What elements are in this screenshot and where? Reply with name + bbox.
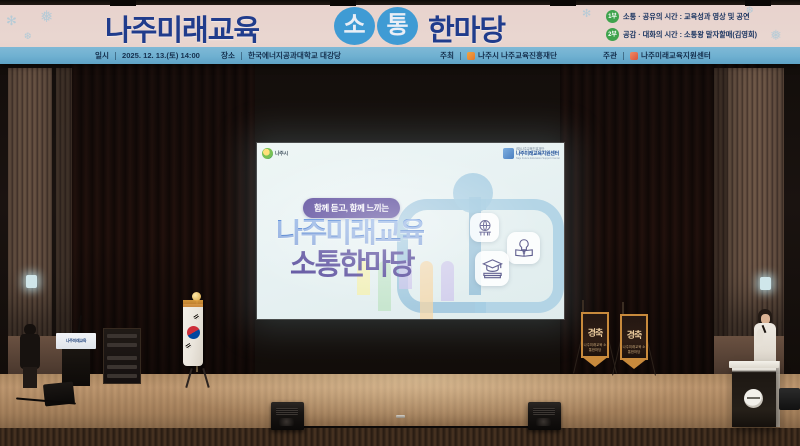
info-organizer-label: 주관 xyxy=(603,50,617,61)
projection-screen: 나주시 (재)나주교육진흥재단 나주미래교육지원센터 Naju Future E… xyxy=(257,143,564,319)
banner-title-right: 한마당 xyxy=(428,7,505,49)
acoustic-wall-panel-left-inner xyxy=(56,68,72,336)
banner-info-strip: 일시 2025. 12. 13.(토) 14:00 장소 한국에너지공과대학교 … xyxy=(0,47,800,64)
banner-program-list: 1부 소통 · 공유의 시간 : 교육성과 영상 및 공연 2부 공감 · 대화… xyxy=(606,10,796,46)
naju-city-logo: 나주시 xyxy=(262,148,288,159)
congratulatory-banner-text: 경축 xyxy=(622,328,646,341)
stage-curtain-left xyxy=(70,64,255,376)
program-text-part1: 소통 · 공유의 시간 : 교육성과 영상 및 공연 xyxy=(623,12,750,22)
lightbulb-book-icon xyxy=(507,232,540,264)
congratulatory-banner-text: 경축 xyxy=(583,326,607,339)
floor-microphone-icon xyxy=(396,415,405,418)
banner-circle-badge-so: 소 xyxy=(334,7,375,45)
stage-monitor-speaker-center xyxy=(528,402,561,430)
congratulatory-banner-subtext: 나주미래교육 소통한마당 xyxy=(622,344,646,354)
slide-subtitle-pill: 함께 듣고, 함께 느끼는 xyxy=(303,198,400,218)
congratulatory-banner: 경축 나주미래교육 소통한마당 xyxy=(581,312,609,358)
slide-title-line1: 나주미래교육 xyxy=(276,219,424,248)
info-divider xyxy=(460,52,461,60)
stripe xyxy=(420,261,433,319)
program-text-part2: 공감 · 대화의 시간 : 소통왕 말자할매(김영희) xyxy=(623,30,757,40)
av-equipment-rack xyxy=(103,328,141,384)
info-venue-label: 장소 xyxy=(221,50,235,61)
taegeuk-symbol-icon xyxy=(187,326,200,339)
slide-title-line2: 소통한마당 xyxy=(290,251,413,280)
naju-city-logo-text: 나주시 xyxy=(275,150,288,157)
program-row: 1부 소통 · 공유의 시간 : 교육성과 영상 및 공연 xyxy=(606,10,796,23)
info-divider xyxy=(115,52,116,60)
naju-city-logo-mark-icon xyxy=(262,148,273,159)
center-logo: (재)나주교육진흥재단 나주미래교육지원센터 Naju Future Educa… xyxy=(503,147,560,160)
info-venue: 장소 한국에너지공과대학교 대강당 xyxy=(221,50,341,61)
floor-cable xyxy=(290,426,540,428)
trigram-icon xyxy=(185,343,191,349)
rack-unit xyxy=(107,374,137,378)
center-logo-mark-icon xyxy=(503,148,514,159)
center-logo-text: (재)나주교육진흥재단 나주미래교육지원센터 Naju Future Educa… xyxy=(516,147,560,160)
banner-title-row: 나주미래교육 소 통 한마당 1부 소통 · 공유의 시간 : 교육성과 영상 … xyxy=(0,3,800,47)
flag-fringe xyxy=(183,300,203,307)
rack-unit xyxy=(107,334,137,338)
rack-unit xyxy=(107,343,137,347)
info-divider xyxy=(623,52,624,60)
korean-national-flag xyxy=(183,304,203,366)
trigram-icon xyxy=(193,314,199,320)
exit-light-icon-left xyxy=(26,275,37,288)
info-organizer: 주관 나주미래교육지원센터 xyxy=(603,50,711,61)
av-technician-person xyxy=(20,324,40,386)
graduation-cap-books-icon xyxy=(475,251,509,286)
banner-circle-badges: 소 통 xyxy=(334,7,418,45)
naju-city-mini-logo-icon xyxy=(467,52,475,60)
event-banner: ✻ ❅ ❆ ✻ ❅ ❆ ✻ 나주미래교육 소 통 한마당 1부 소통 · 공유의… xyxy=(0,0,800,64)
acoustic-wall-panel-right xyxy=(728,68,784,336)
info-host: 주최 나주시 나주교육진흥재단 xyxy=(440,50,557,61)
acoustic-wall-panel-right-inner xyxy=(714,68,728,336)
program-badge-part2: 2부 xyxy=(606,28,619,41)
info-datetime-value: 2025. 12. 13.(토) 14:00 xyxy=(122,50,200,61)
info-datetime: 일시 2025. 12. 13.(토) 14:00 xyxy=(95,50,200,61)
banner-circle-badge-tong: 통 xyxy=(377,7,418,45)
info-divider xyxy=(241,52,242,60)
info-host-label: 주최 xyxy=(440,50,454,61)
exit-light-icon-right xyxy=(760,277,771,290)
center-mini-logo-icon xyxy=(630,52,638,60)
book-head-circle xyxy=(453,173,493,213)
info-host-value: 나주시 나주교육진흥재단 xyxy=(478,50,557,61)
stage-apron-edge xyxy=(0,428,800,446)
lectern-sign-text: 나주미래교육 xyxy=(66,338,86,344)
podium xyxy=(732,365,776,427)
rack-unit xyxy=(107,356,137,360)
program-row: 2부 공감 · 대화의 시간 : 소통왕 말자할매(김영희) xyxy=(606,28,796,41)
technician-body xyxy=(20,334,40,369)
info-datetime-label: 일시 xyxy=(95,50,109,61)
congratulatory-banner-subtext: 나주미래교육 소통한마당 xyxy=(583,342,607,352)
center-logo-line3: Naju Future Education Support Center xyxy=(516,157,560,160)
lectern-sign: 나주미래교육 xyxy=(56,333,96,349)
podium-emblem-icon xyxy=(744,389,763,408)
acoustic-wall-panel-left xyxy=(8,68,52,336)
auditorium-stage-scene: ✻ ❅ ❆ ✻ ❅ ❆ ✻ 나주미래교육 소 통 한마당 1부 소통 · 공유의… xyxy=(0,0,800,446)
technician-legs xyxy=(23,367,37,388)
program-badge-part1: 1부 xyxy=(606,10,619,23)
side-lectern: 나주미래교육 xyxy=(62,340,90,386)
banner-title-left: 나주미래교육 xyxy=(105,7,259,49)
stripe xyxy=(441,261,454,301)
stage-monitor-speaker-right xyxy=(779,388,800,410)
congratulatory-banner: 경축 나주미래교육 소통한마당 xyxy=(620,314,648,360)
info-venue-value: 한국에너지공과대학교 대강당 xyxy=(248,50,341,61)
rack-unit xyxy=(107,365,137,369)
flag-stand xyxy=(186,368,208,390)
stage-monitor-speaker-left xyxy=(271,402,304,430)
stage-floor-light xyxy=(150,374,690,426)
info-organizer-value: 나주미래교육지원센터 xyxy=(641,50,711,61)
globe-graduates-icon xyxy=(470,213,499,242)
podium-top-surface xyxy=(729,361,779,368)
